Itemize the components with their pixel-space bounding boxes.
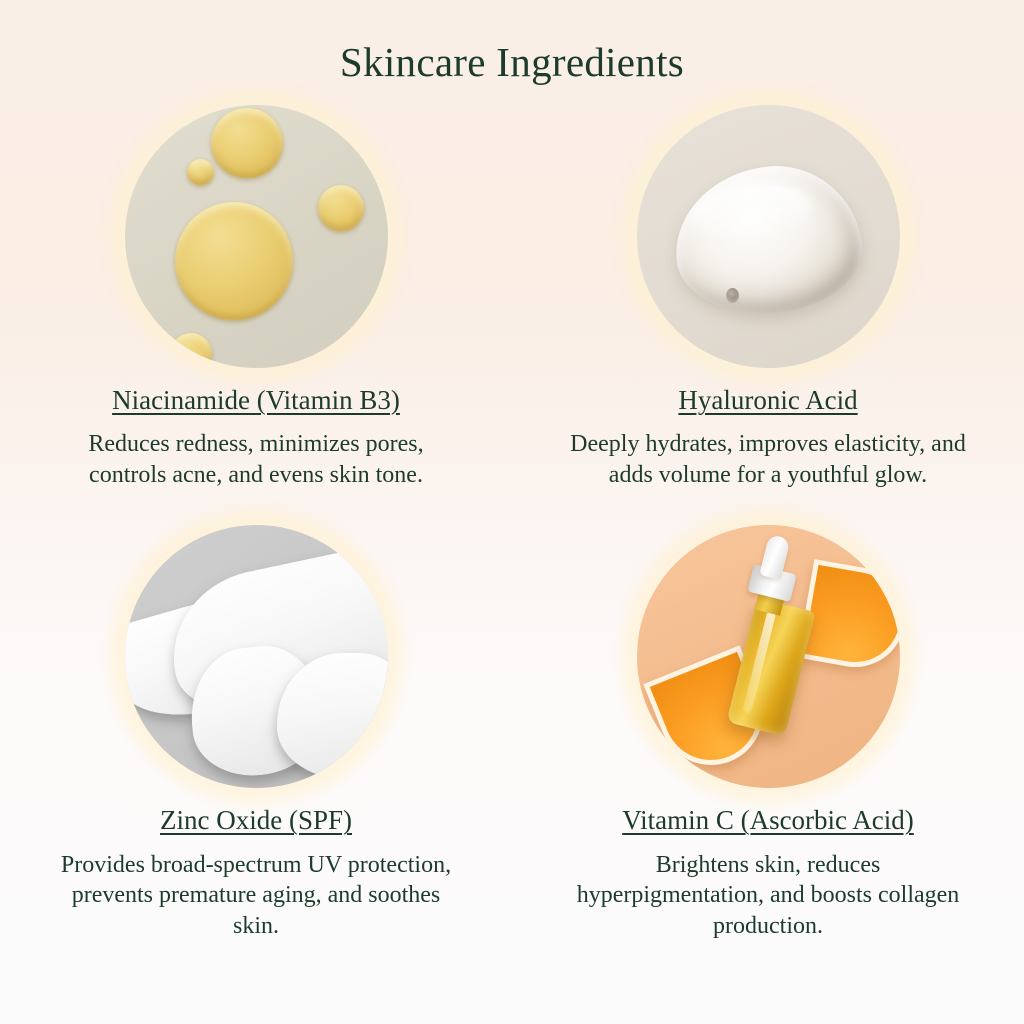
ingredient-title: Hyaluronic Acid [678, 385, 857, 416]
page-title: Skincare Ingredients [0, 40, 1024, 85]
infographic-page: Skincare Ingredients Niacinamide (Vitami… [0, 0, 1024, 1024]
serum-bottle [726, 598, 815, 737]
gel-blob-icon [637, 105, 900, 368]
oil-droplet [175, 202, 293, 320]
ingredient-image-niacinamide [125, 105, 388, 368]
ingredient-description: Reduces redness, minimizes pores, contro… [56, 429, 456, 490]
ingredient-card-hyaluronic-acid: Hyaluronic Acid Deeply hydrates, improve… [512, 105, 1024, 490]
ingredient-card-vitamin-c: Vitamin C (Ascorbic Acid) Brightens skin… [512, 490, 1024, 941]
ingredient-description: Provides broad-spectrum UV protection, p… [51, 850, 461, 942]
ingredient-card-zinc-oxide: Zinc Oxide (SPF) Provides broad-spectrum… [0, 490, 512, 941]
cream-smear-icon [125, 525, 388, 788]
oil-droplets-icon [125, 105, 388, 368]
orange-flesh [802, 565, 899, 669]
oil-droplet [170, 333, 212, 368]
oil-droplet [211, 108, 283, 178]
ingredient-title: Niacinamide (Vitamin B3) [112, 385, 400, 416]
oil-droplet [318, 185, 364, 231]
air-bubble [726, 288, 739, 303]
oil-droplet [187, 159, 214, 185]
ingredient-grid: Niacinamide (Vitamin B3) Reduces redness… [0, 105, 1024, 942]
ingredient-card-niacinamide: Niacinamide (Vitamin B3) Reduces redness… [0, 105, 512, 490]
ingredient-image-zinc-oxide [125, 525, 388, 788]
ingredient-title: Zinc Oxide (SPF) [160, 805, 352, 836]
ingredient-description: Brightens skin, reduces hyperpigmentatio… [563, 850, 973, 942]
ingredient-title: Vitamin C (Ascorbic Acid) [622, 805, 914, 836]
ingredient-description: Deeply hydrates, improves elasticity, an… [568, 429, 968, 490]
gel-blob [667, 158, 867, 323]
ingredient-image-vitamin-c [637, 525, 900, 788]
serum-bottle-icon [637, 525, 900, 788]
ingredient-image-hyaluronic-acid [637, 105, 900, 368]
